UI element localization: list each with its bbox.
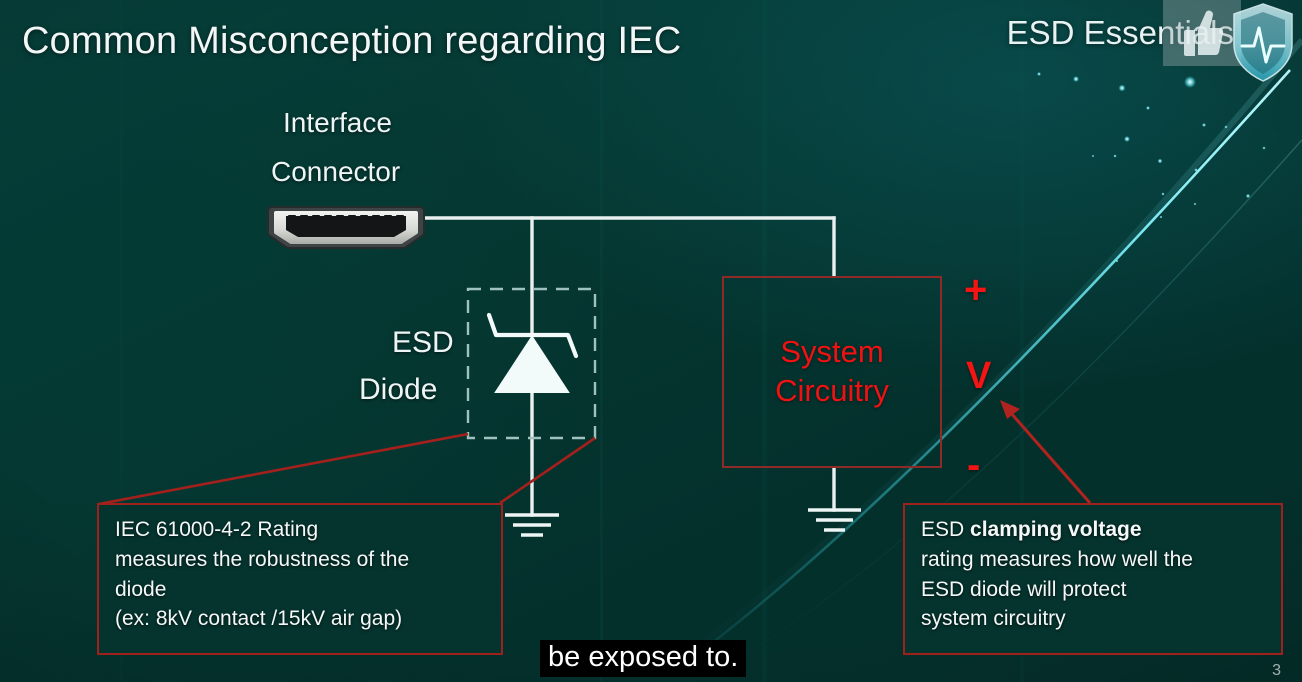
left-callout-box: IEC 61000-4-2 Rating measures the robust…: [97, 503, 503, 655]
right-callout-line4: system circuitry: [921, 604, 1267, 634]
right-callout-box: ESD clamping voltage rating measures how…: [903, 503, 1283, 655]
page-title: Common Misconception regarding IEC: [22, 20, 681, 63]
ground-icon-right: [808, 510, 861, 530]
right-callout-line3: ESD diode will protect: [921, 575, 1267, 605]
interface-label: Interface: [283, 108, 392, 137]
right-callout-line1-prefix: ESD: [921, 518, 970, 541]
diode-label: Diode: [359, 374, 437, 406]
ground-icon-left: [505, 515, 559, 535]
video-caption: be exposed to.: [540, 640, 746, 677]
zener-diode-icon: [489, 315, 576, 392]
voltage-v-marker: V: [966, 355, 991, 398]
left-callout-line2: measures the robustness of the: [115, 545, 487, 575]
slide-canvas: Common Misconception regarding IEC ESD E…: [0, 0, 1302, 682]
connector-label: Connector: [271, 157, 400, 186]
voltage-plus-marker: +: [964, 268, 987, 313]
left-callout-leader: [99, 434, 595, 504]
shield-logo-icon: [1230, 2, 1296, 84]
system-circuitry-line2: Circuitry: [775, 372, 889, 411]
esd-diode-dashed-box: [468, 289, 595, 438]
right-callout-line2: rating measures how well the: [921, 545, 1267, 575]
voltage-minus-marker: -: [967, 443, 980, 488]
left-callout-line1: IEC 61000-4-2 Rating: [115, 515, 487, 545]
right-callout-arrow: [1000, 400, 1090, 503]
system-circuitry-box: System Circuitry: [722, 276, 942, 468]
system-circuitry-line1: System: [780, 333, 883, 372]
right-callout-line1-bold: clamping voltage: [970, 518, 1142, 541]
left-callout-line4: (ex: 8kV contact /15kV air gap): [115, 604, 487, 634]
slide-number: 3: [1272, 662, 1281, 680]
hdmi-connector-icon: [266, 203, 426, 251]
esd-label: ESD: [392, 327, 454, 359]
right-callout-line1: ESD clamping voltage: [921, 515, 1267, 545]
left-callout-line3: diode: [115, 575, 487, 605]
